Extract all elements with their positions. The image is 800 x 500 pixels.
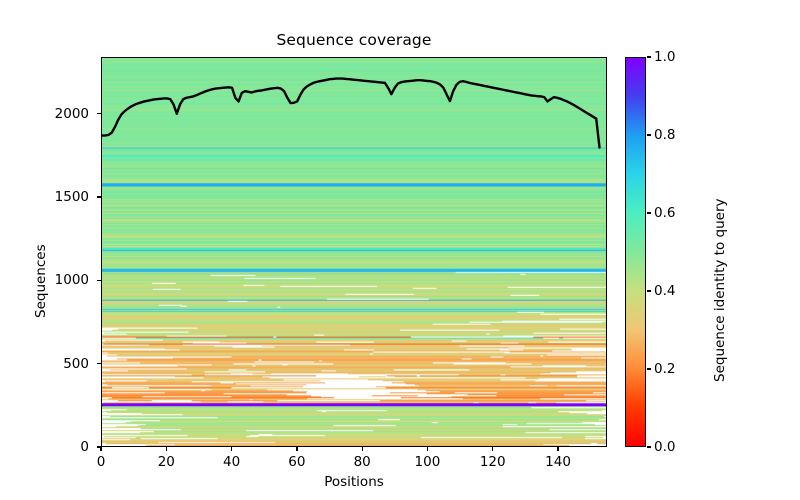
colorbar-label: Sequence identity to query	[712, 199, 728, 383]
y-tick-label: 500	[29, 356, 89, 372]
x-tick-mark	[166, 447, 167, 451]
x-tick-mark	[427, 447, 428, 451]
colorbar-tick-label: 0.4	[654, 283, 700, 299]
y-tick-mark	[97, 363, 101, 364]
y-axis-label: Sequences	[33, 244, 49, 318]
colorbar-gradient	[626, 58, 645, 446]
colorbar-tick-label: 0.0	[654, 439, 700, 455]
x-axis-label: Positions	[101, 474, 607, 490]
colorbar-tick-label: 0.6	[654, 205, 700, 221]
page-title: Sequence coverage	[101, 31, 607, 49]
y-tick-label: 1500	[29, 189, 89, 205]
x-tick-mark	[362, 447, 363, 451]
colorbar-tick-mark	[647, 368, 651, 369]
colorbar-tick-label: 0.2	[654, 361, 700, 377]
x-tick-label: 100	[397, 454, 457, 470]
y-tick-mark	[97, 113, 101, 114]
coverage-curve-layer	[102, 58, 606, 446]
x-tick-mark	[557, 447, 558, 451]
y-tick-mark	[97, 280, 101, 281]
y-tick-label: 2000	[29, 106, 89, 122]
x-tick-label: 140	[528, 454, 588, 470]
x-tick-label: 20	[136, 454, 196, 470]
y-tick-mark	[97, 196, 101, 197]
x-tick-label: 40	[202, 454, 262, 470]
coverage-line	[102, 79, 599, 148]
colorbar-tick-label: 1.0	[654, 49, 700, 65]
heatmap-plot-area	[102, 58, 606, 446]
x-tick-label: 120	[463, 454, 523, 470]
y-tick-label: 0	[29, 439, 89, 455]
x-tick-label: 60	[267, 454, 327, 470]
colorbar-tick-mark	[647, 290, 651, 291]
x-tick-mark	[296, 447, 297, 451]
figure-canvas: Sequence coverage 020406080100120140 050…	[0, 0, 800, 500]
colorbar-tick-label: 0.8	[654, 127, 700, 143]
heatmap-axes	[101, 57, 607, 447]
colorbar-tick-mark	[647, 212, 651, 213]
x-tick-mark	[492, 447, 493, 451]
colorbar-tick-mark	[647, 56, 651, 57]
colorbar-tick-mark	[647, 134, 651, 135]
x-tick-label: 80	[332, 454, 392, 470]
x-tick-mark	[231, 447, 232, 451]
y-tick-mark	[97, 446, 101, 447]
colorbar-tick-mark	[647, 446, 651, 447]
x-tick-label: 0	[71, 454, 131, 470]
colorbar	[625, 57, 646, 447]
